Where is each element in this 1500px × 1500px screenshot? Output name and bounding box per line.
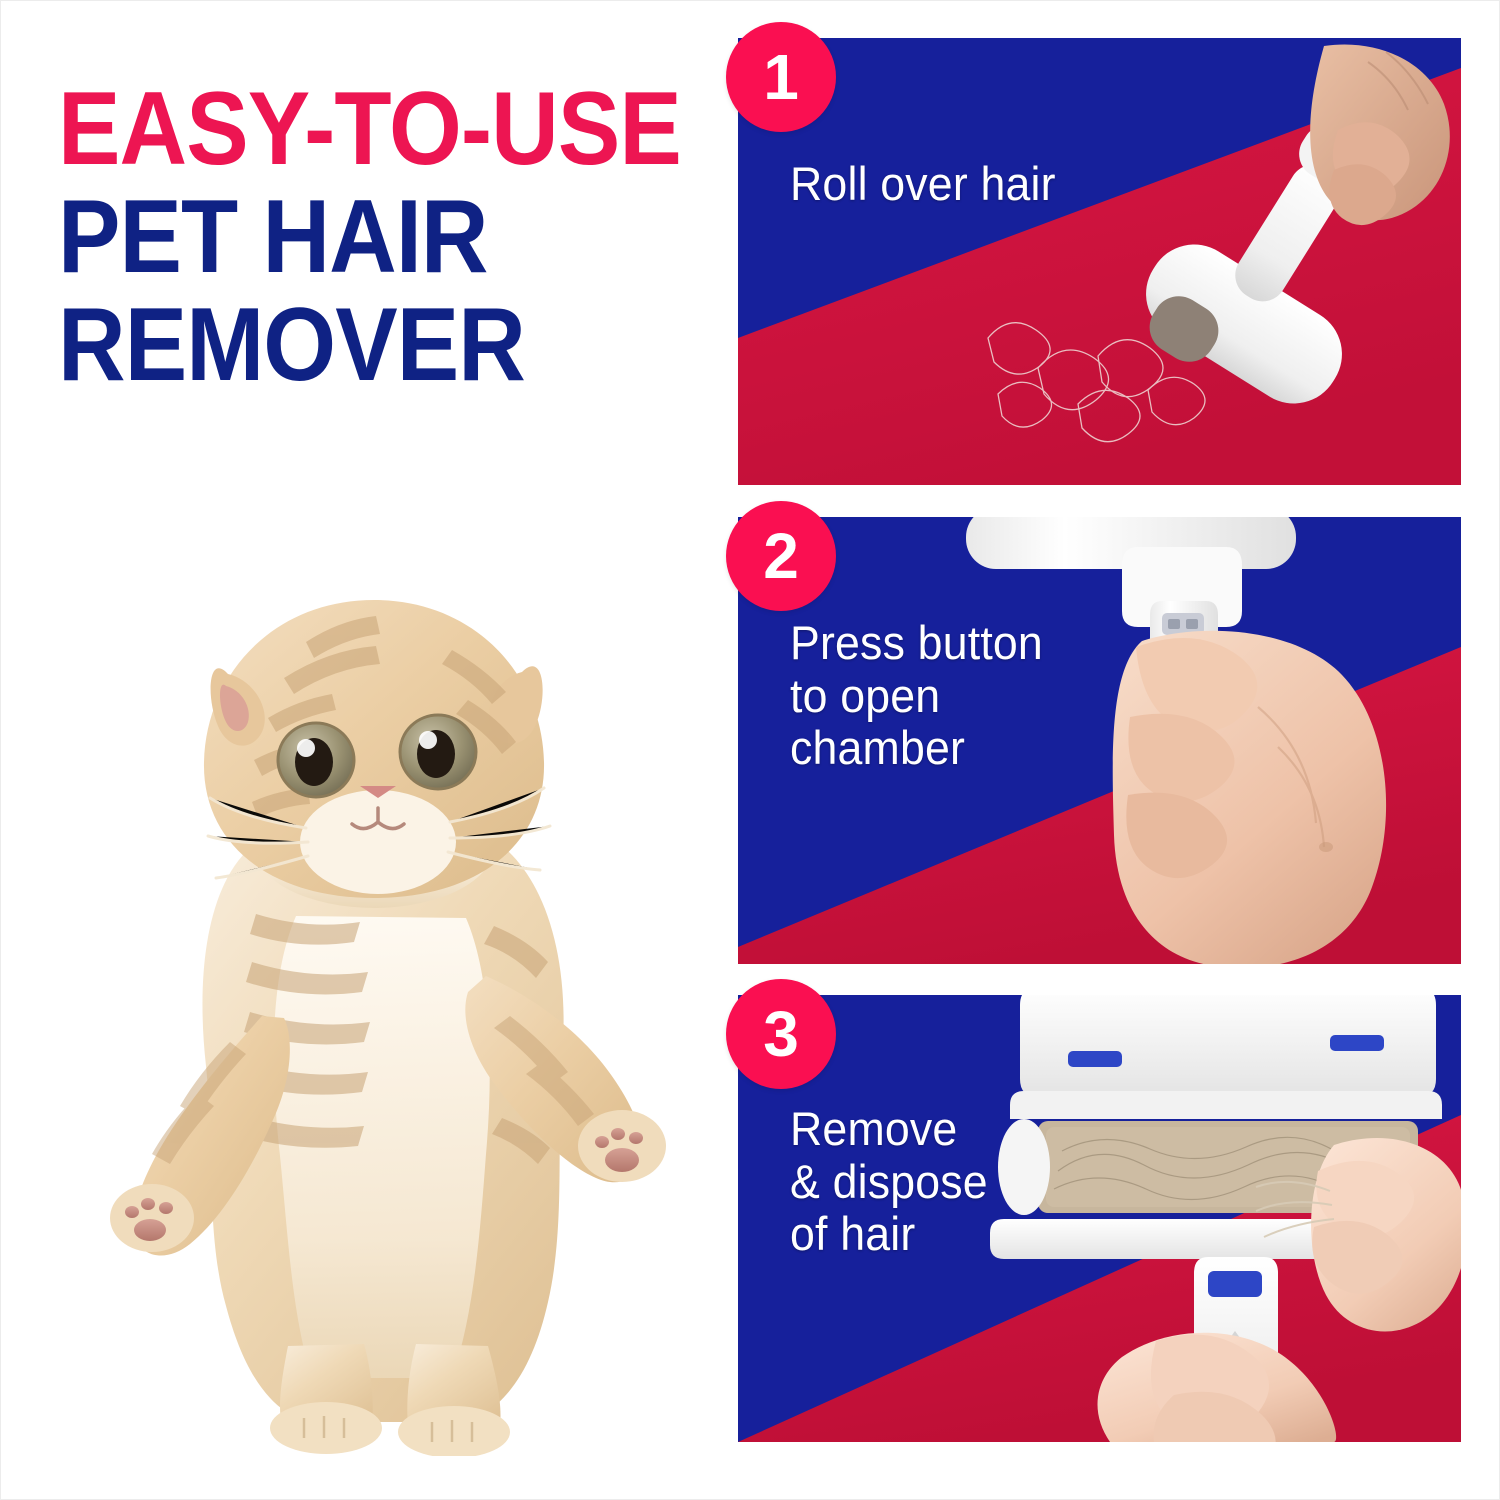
opened-chamber [1010, 995, 1442, 1119]
hero-cat-image [56, 546, 696, 1456]
headline-line-1: Easy-to-use [58, 79, 652, 181]
step-panel-3: 3 Remove & dispose of hair [738, 995, 1461, 1442]
infographic-canvas: Easy-to-use Pet Hair Remover [0, 0, 1500, 1500]
lid-latch-right [1330, 1035, 1384, 1051]
step-panel-1-image [738, 38, 1461, 485]
step-panel-1: 1 Roll over hair [738, 38, 1461, 485]
cat-muzzle [300, 790, 456, 894]
step-badge-1: 1 [726, 22, 836, 132]
lid-latch-left [1068, 1051, 1122, 1067]
hand-gripping-tool [1113, 631, 1386, 964]
cat-left-paw [110, 1184, 194, 1252]
step-badge-2: 2 [726, 501, 836, 611]
release-button [1208, 1271, 1262, 1297]
step-caption-2: Press button to open chamber [790, 617, 1043, 775]
step-caption-1: Roll over hair [790, 158, 1056, 211]
step-1-illustration [738, 38, 1461, 485]
page-title: Easy-to-use Pet Hair Remover [58, 79, 718, 397]
headline-line-3: Remover [58, 295, 652, 397]
headline-line-2: Pet Hair [58, 187, 652, 289]
step-caption-3: Remove & dispose of hair [790, 1103, 988, 1261]
cat-illustration [56, 546, 696, 1456]
step-panel-2: 2 Press button to open chamber [738, 517, 1461, 964]
step-badge-3: 3 [726, 979, 836, 1089]
